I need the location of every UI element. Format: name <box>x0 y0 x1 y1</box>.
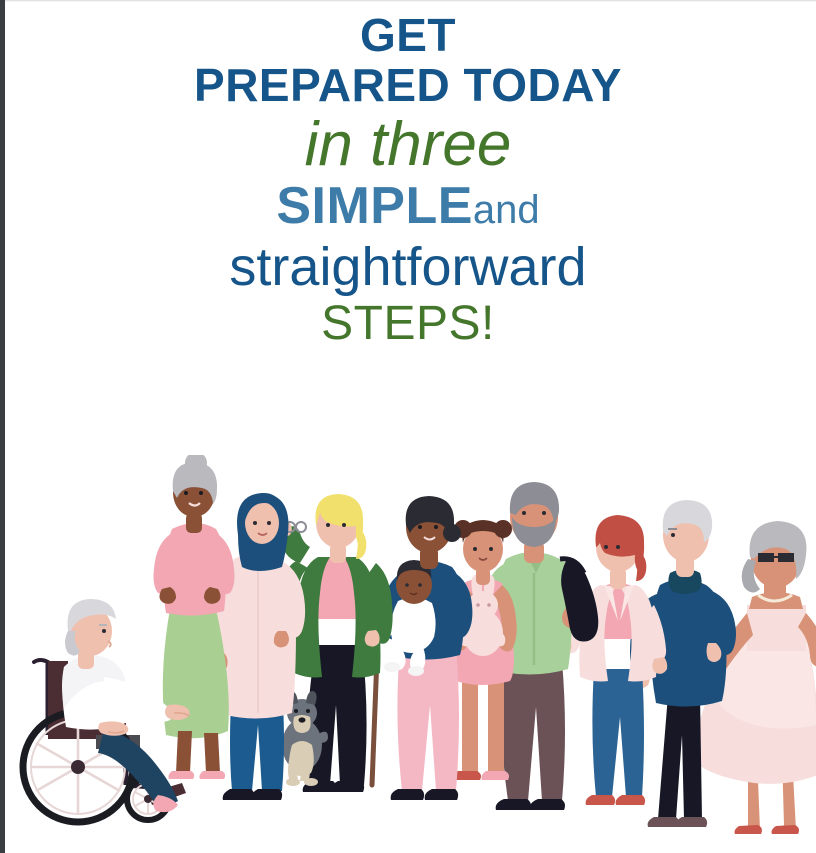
headline-word-and: and <box>473 188 540 232</box>
headline-word-simple: SIMPLE <box>276 177 473 235</box>
headline-block: GET PREPARED TODAY in three SIMPLEand st… <box>0 0 816 348</box>
poster-canvas: GET PREPARED TODAY in three SIMPLEand st… <box>0 0 816 853</box>
figure-mother-with-baby <box>374 496 472 800</box>
headline-line-in-three: in three <box>0 114 816 176</box>
headline-line-steps: STEPS! <box>0 300 816 348</box>
top-edge-rule <box>5 0 816 2</box>
people-illustration-svg <box>0 455 816 853</box>
headline-line-simple-and: SIMPLEand <box>0 180 816 232</box>
headline-line-prepared-today: PREPARED TODAY <box>0 62 816 108</box>
figure-wheelchair-user <box>23 599 190 822</box>
headline-line-straightforward: straightforward <box>0 240 816 294</box>
people-illustration <box>0 455 816 853</box>
left-edge-strip <box>0 0 5 853</box>
headline-line-get: GET <box>0 12 816 58</box>
